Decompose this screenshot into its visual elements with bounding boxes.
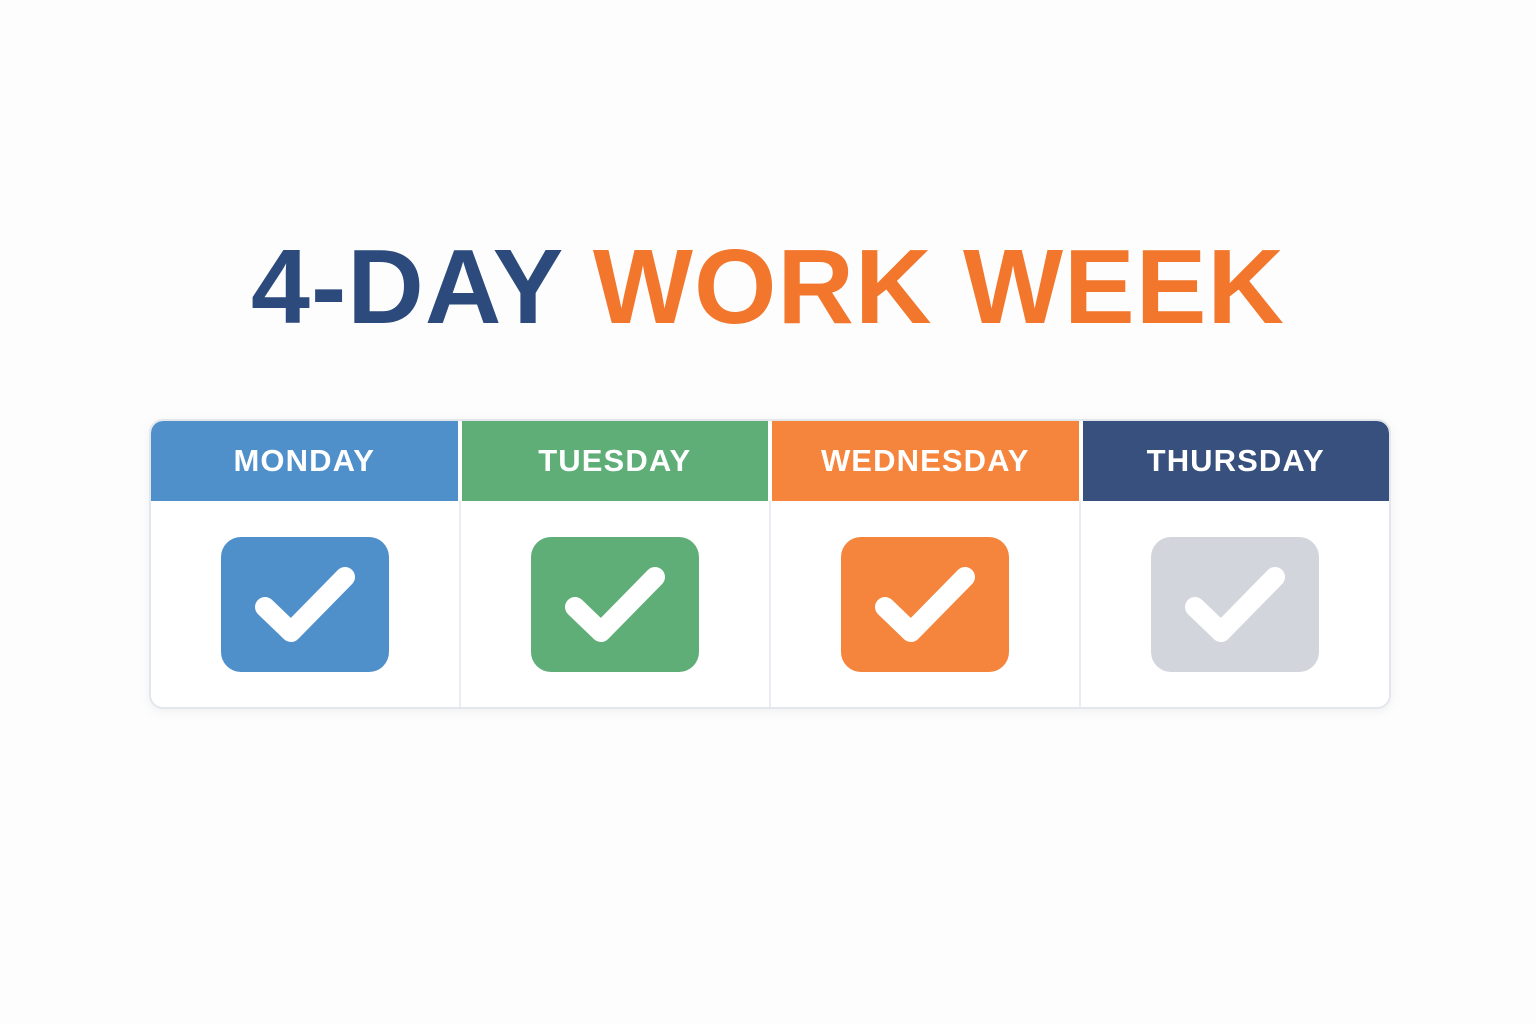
day-header-label: THURSDAY xyxy=(1147,443,1325,479)
day-cell-wednesday[interactable] xyxy=(771,501,1081,707)
page-title-part-primary: 4-DAY xyxy=(251,228,593,346)
checkbox-monday[interactable] xyxy=(221,537,389,672)
day-header-tuesday[interactable]: TUESDAY xyxy=(462,421,769,501)
day-cell-monday[interactable] xyxy=(151,501,461,707)
checkbox-wednesday[interactable] xyxy=(841,537,1009,672)
day-header-label: WEDNESDAY xyxy=(821,443,1030,479)
checkbox-thursday[interactable] xyxy=(1151,537,1319,672)
check-icon xyxy=(251,561,359,647)
day-header-label: MONDAY xyxy=(233,443,375,479)
page-title-part-accent: WORK WEEK xyxy=(593,228,1285,346)
day-header-row: MONDAY TUESDAY WEDNESDAY THURSDAY xyxy=(151,421,1389,501)
check-icon xyxy=(561,561,669,647)
checkbox-tuesday[interactable] xyxy=(531,537,699,672)
day-cell-tuesday[interactable] xyxy=(461,501,771,707)
day-header-label: TUESDAY xyxy=(538,443,691,479)
page-title: 4-DAY WORK WEEK xyxy=(0,227,1536,349)
work-week-card: MONDAY TUESDAY WEDNESDAY THURSDAY xyxy=(149,419,1391,709)
check-icon xyxy=(1181,561,1289,647)
check-icon xyxy=(871,561,979,647)
day-header-monday[interactable]: MONDAY xyxy=(151,421,458,501)
day-cell-thursday[interactable] xyxy=(1081,501,1389,707)
day-header-wednesday[interactable]: WEDNESDAY xyxy=(772,421,1079,501)
day-body-row xyxy=(151,501,1389,707)
day-header-thursday[interactable]: THURSDAY xyxy=(1083,421,1390,501)
